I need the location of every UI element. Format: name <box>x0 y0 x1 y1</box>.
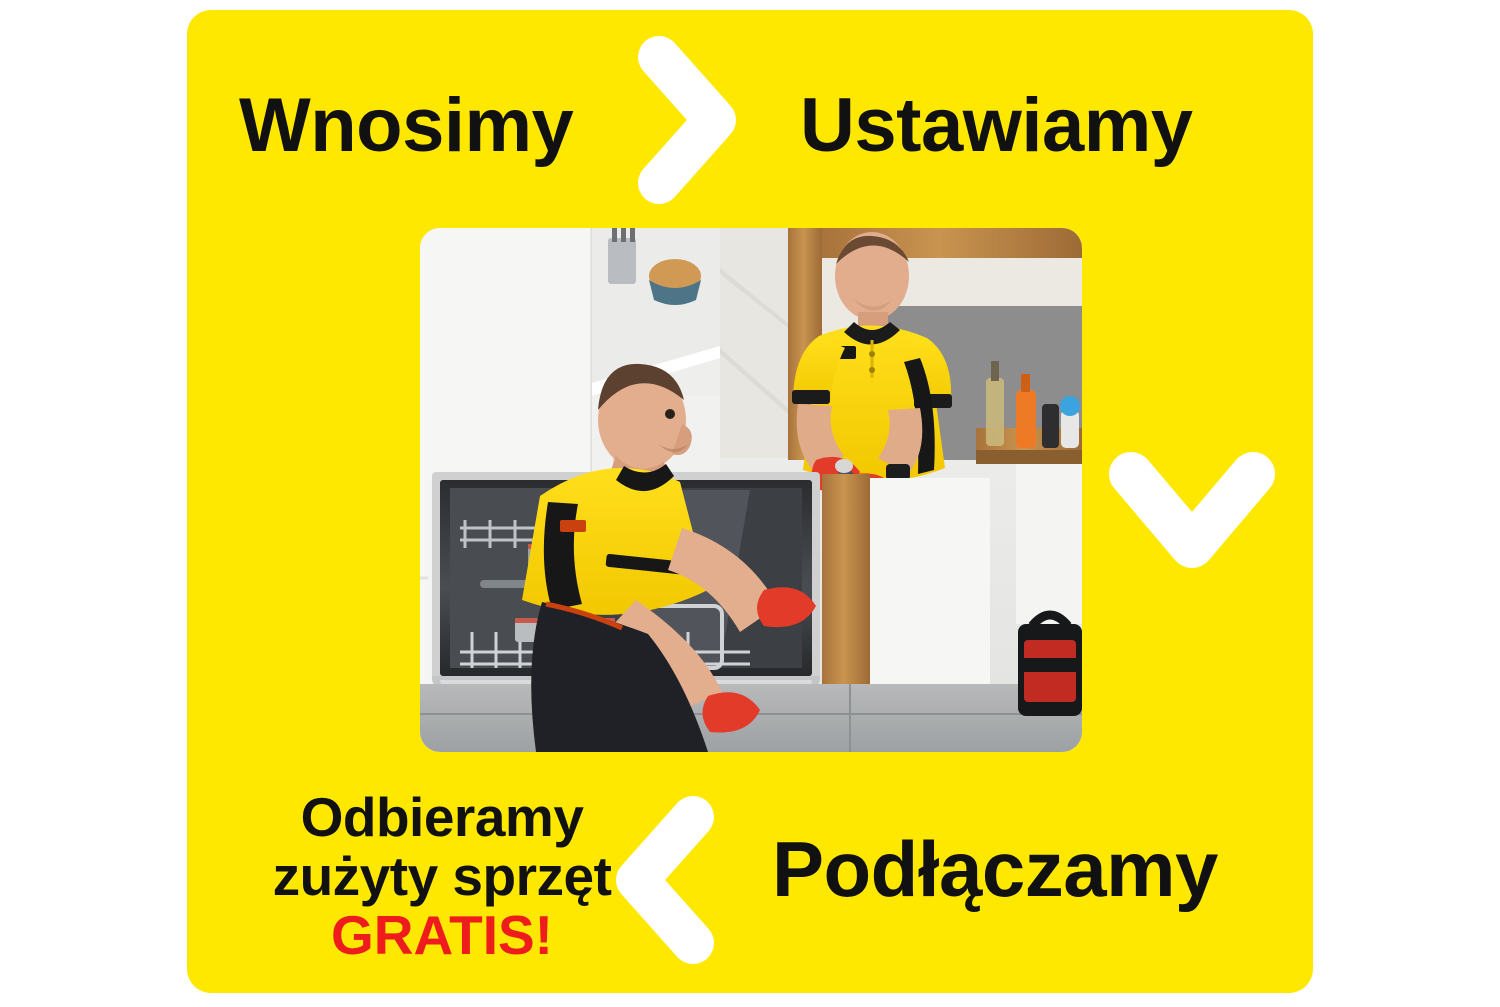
chevron-down-icon <box>1107 450 1277 585</box>
heading-step-2: Ustawiamy <box>800 88 1193 164</box>
pickup-line-1: Odbieramy <box>232 788 652 847</box>
pickup-free-badge: GRATIS! <box>232 906 652 965</box>
heading-step-3: Podłączamy <box>772 830 1218 908</box>
free-pickup-block: Odbieramy zużyty sprzęt GRATIS! <box>232 788 652 965</box>
promo-poster: Wnosimy Ustawiamy <box>187 10 1313 993</box>
pickup-line-2: zużyty sprzęt <box>232 847 652 906</box>
chevron-right-icon <box>637 35 737 205</box>
heading-step-1: Wnosimy <box>239 88 573 164</box>
chevron-left-icon <box>615 795 715 965</box>
installation-photo <box>420 228 1082 752</box>
